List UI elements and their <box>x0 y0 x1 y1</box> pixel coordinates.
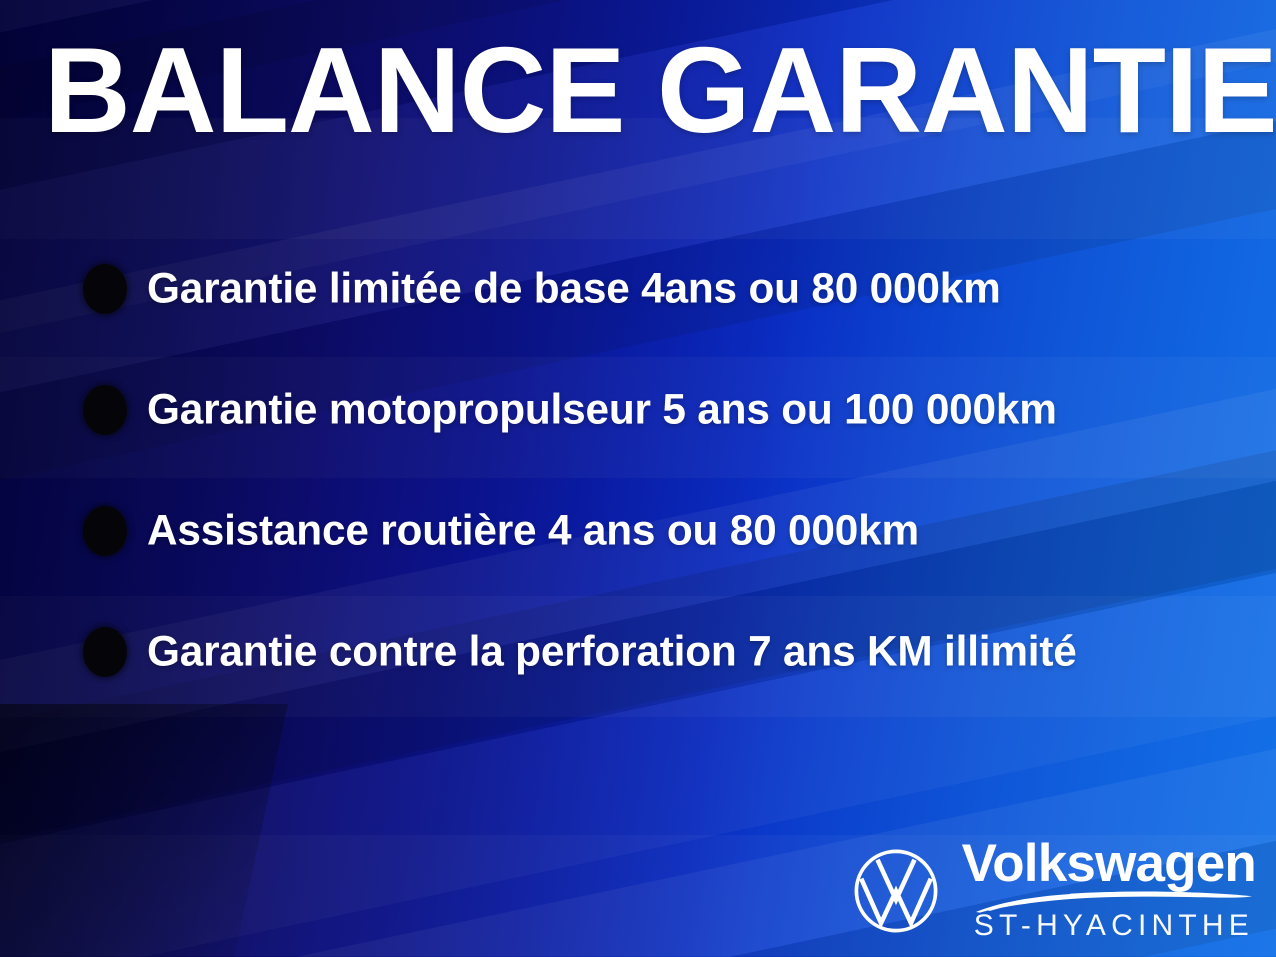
page-title: BALANCE GARANTIE <box>44 29 1276 151</box>
bullet-dot-icon <box>83 264 127 314</box>
warranty-benefits-list: Garantie limitée de base 4ans ou 80 000k… <box>0 228 1276 712</box>
bullet-dot-icon <box>83 506 127 556</box>
promo-poster: BALANCE GARANTIE Garantie limitée de bas… <box>0 0 1276 957</box>
list-item: Assistance routière 4 ans ou 80 000km <box>0 470 1276 591</box>
dealer-logo-lockup: Volkswagen ST-HYACINTHE <box>852 837 1256 945</box>
bullet-dot-icon <box>83 385 127 435</box>
list-item-label: Garantie contre la perforation 7 ans KM … <box>147 627 1077 676</box>
volkswagen-roundel-icon <box>852 847 940 935</box>
list-item-label: Garantie motopropulseur 5 ans ou 100 000… <box>147 385 1057 434</box>
brand-wordmark: Volkswagen <box>962 837 1256 891</box>
poster-content: BALANCE GARANTIE Garantie limitée de bas… <box>0 0 1276 957</box>
bullet-dot-icon <box>83 627 127 677</box>
list-item-label: Assistance routière 4 ans ou 80 000km <box>147 506 919 555</box>
dealer-location-label: ST-HYACINTHE <box>974 909 1254 943</box>
list-item: Garantie motopropulseur 5 ans ou 100 000… <box>0 349 1276 470</box>
list-item-label: Garantie limitée de base 4ans ou 80 000k… <box>147 264 1001 313</box>
list-item: Garantie contre la perforation 7 ans KM … <box>0 591 1276 712</box>
wordmark-block: Volkswagen ST-HYACINTHE <box>962 837 1256 945</box>
list-item: Garantie limitée de base 4ans ou 80 000k… <box>0 228 1276 349</box>
